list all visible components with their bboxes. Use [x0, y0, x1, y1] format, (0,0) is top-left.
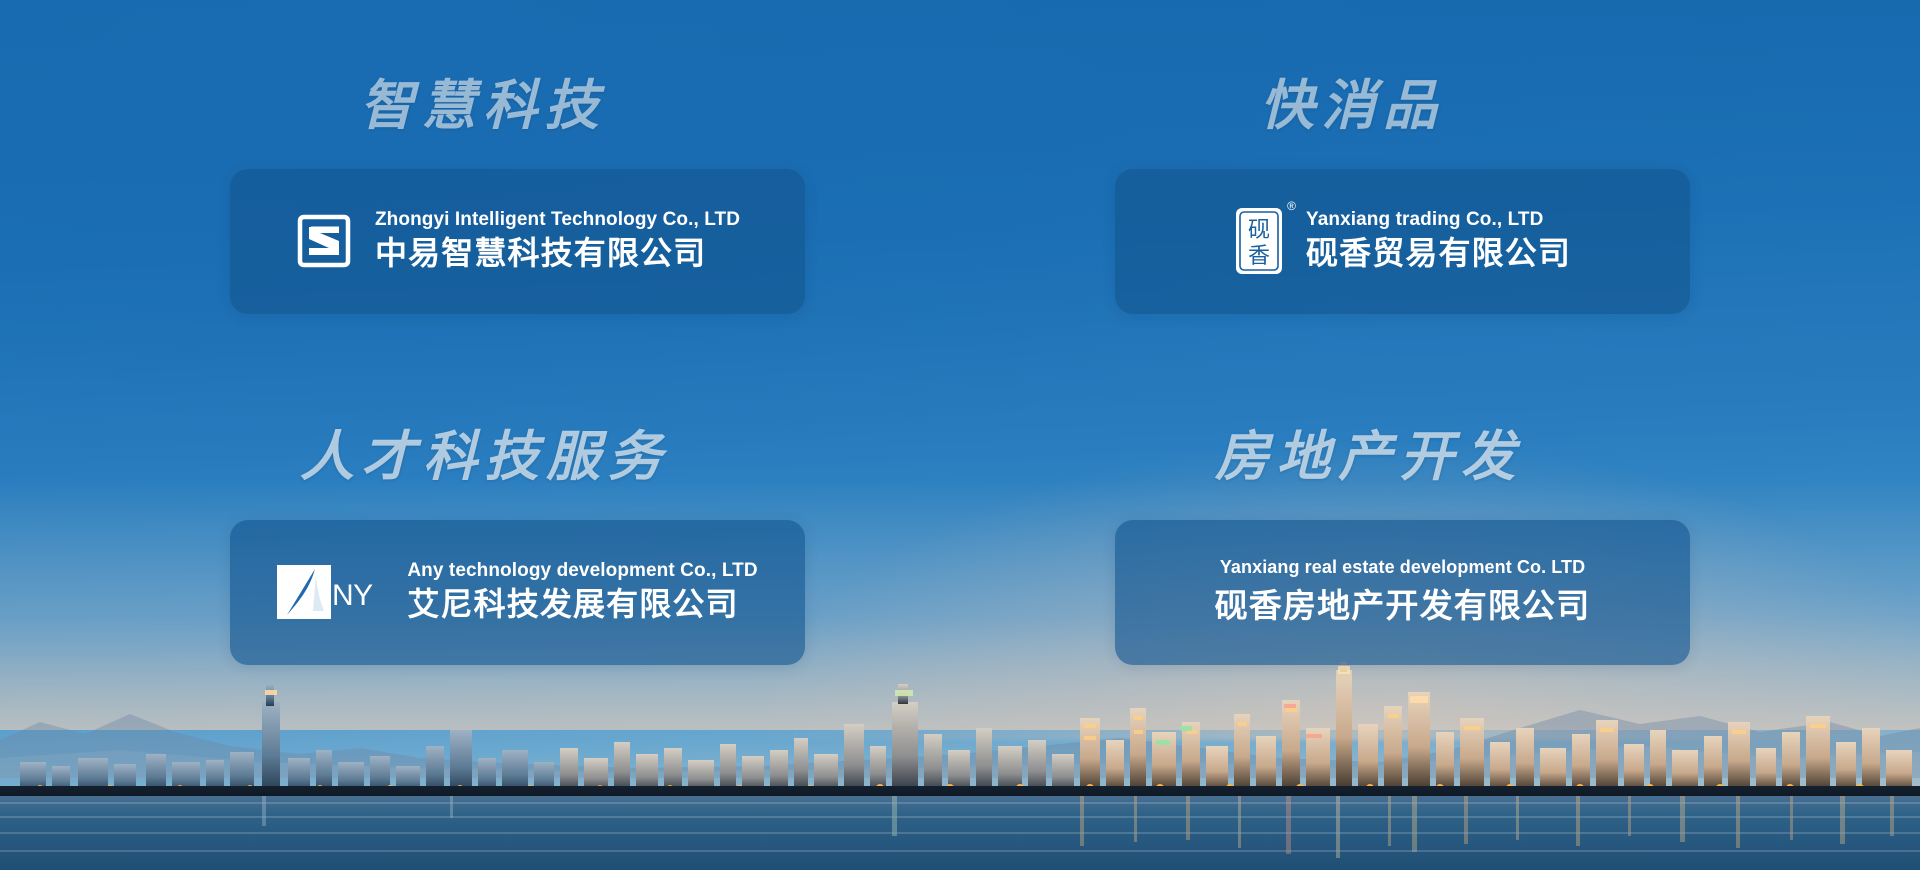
company-name-en: Yanxiang real estate development Co. LTD: [1220, 556, 1585, 579]
yanxiang-seal-icon: 砚 香: [1234, 206, 1284, 276]
svg-text:香: 香: [1248, 243, 1270, 268]
company-name-en: Zhongyi Intelligent Technology Co., LTD: [375, 208, 740, 232]
segment-title-real-estate: 房地产开发: [1215, 429, 1523, 486]
company-name-cn: 中易智慧科技有限公司: [375, 233, 740, 275]
company-card-any[interactable]: NY Any technology development Co., LTD 艾…: [230, 520, 805, 665]
company-name-cn: 艾尼科技发展有限公司: [407, 584, 757, 626]
registered-trademark-icon: ®: [1287, 200, 1296, 212]
yanxiang-seal-logo: 砚 香 ®: [1234, 206, 1284, 276]
company-name-cn: 砚香房地产开发有限公司: [1215, 585, 1591, 628]
segment-fmcg: 快消品 砚 香 ® Yanxiang trading Co., LTD 砚香贸易…: [975, 78, 1690, 429]
zhongyi-logo: [295, 212, 353, 270]
segment-title-fmcg: 快消品: [1260, 78, 1445, 135]
yanxiang-real-estate-names: Yanxiang real estate development Co. LTD…: [1215, 556, 1591, 627]
yanxiang-trading-names: Yanxiang trading Co., LTD 砚香贸易有限公司: [1306, 208, 1571, 275]
zhongyi-z-mark-icon: [295, 212, 353, 270]
company-name-cn: 砚香贸易有限公司: [1306, 233, 1571, 275]
company-card-zhongyi[interactable]: Zhongyi Intelligent Technology Co., LTD …: [230, 169, 805, 314]
svg-text:砚: 砚: [1248, 217, 1270, 242]
segment-talent-services: 人才科技服务 NY Any technology development Co.…: [230, 429, 895, 780]
company-name-en: Any technology development Co., LTD: [407, 559, 757, 583]
company-card-yanxiang-trading[interactable]: 砚 香 ® Yanxiang trading Co., LTD 砚香贸易有限公司: [1115, 169, 1690, 314]
segment-smart-technology: 智慧科技 Zhongyi Intelligent Technology Co.,…: [230, 78, 895, 429]
segments-grid: 智慧科技 Zhongyi Intelligent Technology Co.,…: [0, 0, 1920, 870]
segment-title-talent-services: 人才科技服务: [300, 429, 669, 486]
segment-title-smart-technology: 智慧科技: [360, 78, 606, 135]
any-mountain-mark-icon: NY: [277, 565, 385, 619]
svg-text:NY: NY: [332, 579, 373, 612]
any-logo: NY: [277, 565, 385, 619]
segment-real-estate: 房地产开发 Yanxiang real estate development C…: [975, 429, 1690, 780]
company-name-en: Yanxiang trading Co., LTD: [1306, 208, 1571, 232]
company-card-yanxiang-real-estate[interactable]: Yanxiang real estate development Co. LTD…: [1115, 520, 1690, 665]
zhongyi-names: Zhongyi Intelligent Technology Co., LTD …: [375, 208, 740, 275]
any-names: Any technology development Co., LTD 艾尼科技…: [407, 559, 757, 626]
